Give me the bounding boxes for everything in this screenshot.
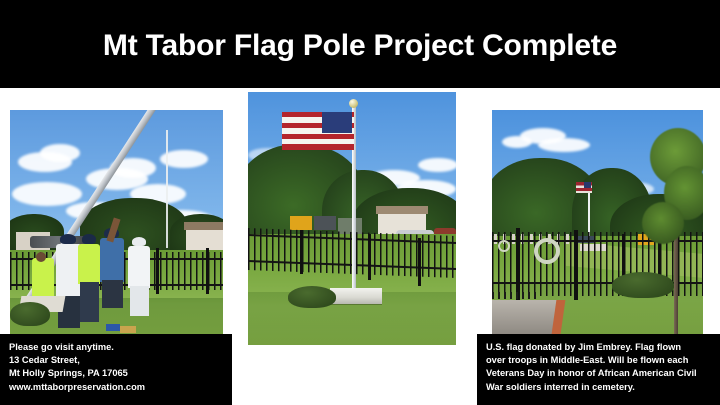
parked-truck — [314, 216, 336, 230]
cloud — [40, 144, 80, 162]
worker-pants — [102, 280, 123, 308]
gravel-drive — [492, 300, 560, 334]
gate-latch-hardware — [492, 292, 540, 299]
pole-finial-icon — [349, 99, 358, 108]
shrub — [288, 286, 336, 308]
cloud — [12, 182, 82, 206]
guy-wire — [166, 130, 168, 248]
cloud — [502, 136, 532, 148]
gate-post — [516, 228, 520, 302]
caption-line: over troops in Middle-East. Will be flow… — [486, 354, 720, 367]
worker — [128, 246, 150, 288]
worker — [32, 258, 54, 296]
flag-donation-caption: U.S. flag donated by Jim Embrey. Flag fl… — [477, 334, 720, 405]
flag-pole-raising-photo — [10, 110, 223, 334]
worker-cap — [82, 234, 96, 244]
caption-line: U.S. flag donated by Jim Embrey. Flag fl… — [486, 341, 720, 354]
shrub — [10, 302, 50, 326]
pole-concrete-base — [330, 288, 382, 304]
visit-info-caption: Please go visit anytime. 13 Cedar Street… — [0, 334, 232, 405]
flag-stripe — [282, 144, 354, 150]
house-roof — [184, 222, 223, 230]
gate-post — [574, 230, 578, 300]
fence-post — [156, 248, 159, 294]
gate-ornament — [498, 240, 510, 252]
cloud — [418, 158, 456, 172]
caption-line: Veterans Day in honor of African America… — [486, 367, 720, 380]
cloud — [538, 138, 590, 152]
page-title: Mt Tabor Flag Pole Project Complete — [0, 30, 720, 62]
caption-line: Mt Holly Springs, PA 17065 — [9, 367, 232, 380]
caption-line: 13 Cedar Street, — [9, 354, 232, 367]
sapling-foliage — [642, 202, 684, 244]
worker-cap — [60, 234, 76, 244]
website-link[interactable]: www.mttaborpreservation.com — [9, 381, 232, 394]
fence-post — [300, 230, 303, 274]
distant-flag-canton — [584, 182, 591, 188]
worker — [78, 244, 100, 284]
fence-post — [206, 248, 209, 294]
flag-canton — [322, 112, 352, 133]
shrub — [612, 272, 674, 298]
house-roof — [376, 206, 428, 214]
memorial-wreath — [534, 238, 560, 264]
worker-pants — [130, 286, 149, 316]
sapling-trunk — [674, 228, 678, 334]
fence-post — [418, 238, 421, 286]
caption-line: War soldiers interred in cemetery. — [486, 381, 720, 394]
tool-box — [106, 324, 120, 331]
slide-canvas: Mt Tabor Flag Pole Project Complete — [0, 0, 720, 405]
cemetery-gate-photo — [492, 110, 703, 334]
us-flag — [282, 112, 354, 150]
worker — [100, 238, 124, 282]
construction-equipment — [290, 216, 312, 230]
worker-pants — [80, 282, 99, 322]
fence-post — [368, 234, 371, 280]
caption-line: Please go visit anytime. — [9, 341, 232, 354]
tool-board — [120, 326, 136, 333]
worker-head — [36, 252, 46, 262]
completed-flag-pole-photo — [248, 92, 456, 345]
worker-cap — [132, 237, 146, 246]
